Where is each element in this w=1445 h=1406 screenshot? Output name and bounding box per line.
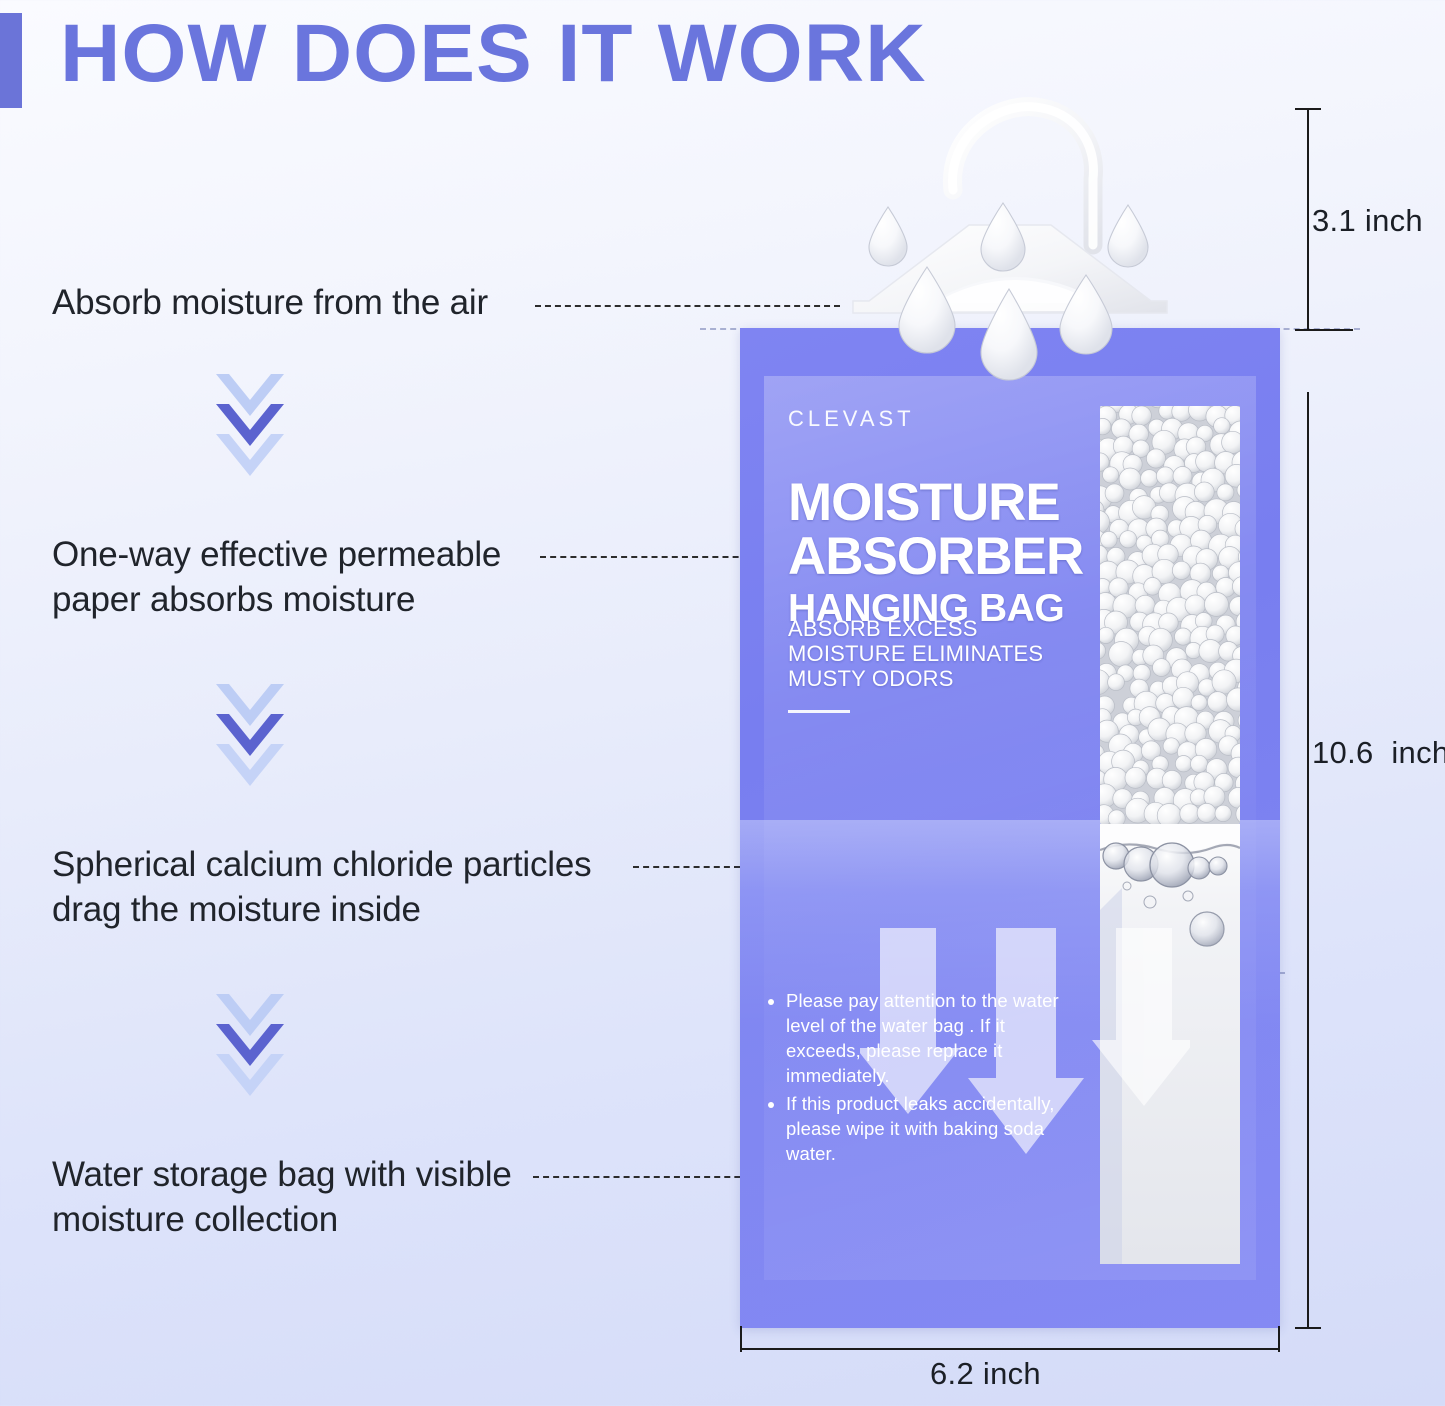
package-headline: MOISTURE ABSORBER HANGING BAG <box>788 476 1088 634</box>
dimension-line-top-vertical <box>1307 108 1309 330</box>
tagline-rule <box>788 710 850 713</box>
callout-absorb-air: Absorb moisture from the air <box>52 280 488 325</box>
dimension-cap-top <box>1295 108 1321 110</box>
dimension-cap-bottom <box>1295 1327 1321 1329</box>
chevron-group-3 <box>214 992 286 1108</box>
dimension-cap-right <box>1278 1326 1280 1352</box>
chevron-group-1 <box>214 372 286 488</box>
dimension-line-width <box>740 1348 1280 1350</box>
hanger-hook-icon <box>835 95 1205 425</box>
water-droplet-icon <box>869 207 907 266</box>
callout-water-storage: Water storage bag with visible moisture … <box>52 1152 512 1242</box>
bead-texture <box>1100 406 1240 824</box>
dimension-cap-left <box>740 1326 742 1352</box>
dimension-cap-middle <box>1295 329 1353 331</box>
dimension-line-body-vertical <box>1307 392 1309 1328</box>
chevron-down-icon <box>214 1052 286 1098</box>
chevron-down-icon <box>214 432 286 478</box>
moisture-flow-arrows <box>860 928 1190 1158</box>
headline-line-1: MOISTURE <box>788 476 1088 529</box>
calcium-chloride-bead-window <box>1100 406 1240 824</box>
leader-line-absorb-air <box>535 305 840 307</box>
chevron-down-icon <box>214 742 286 788</box>
arrow-down-icon <box>860 928 960 1114</box>
headline-line-2: ABSORBER <box>788 529 1088 584</box>
callout-calcium-particles: Spherical calcium chloride particles dra… <box>52 842 591 932</box>
page-title: HOW DOES IT WORK <box>60 8 927 100</box>
title-accent-bar <box>0 13 22 108</box>
dimension-label-body-height: 10.6 inch <box>1312 735 1445 771</box>
arrow-down-icon <box>1092 928 1190 1106</box>
water-droplet-icon <box>981 203 1025 271</box>
product-package: CLEVAST MOISTURE ABSORBER HANGING BAG AB… <box>740 328 1280 1328</box>
water-droplet-icon <box>1108 205 1148 267</box>
package-tagline: ABSORB EXCESS MOISTURE ELIMINATES MUSTY … <box>788 616 1078 691</box>
arrow-down-icon <box>968 928 1084 1154</box>
dimension-label-width: 6.2 inch <box>930 1356 1041 1392</box>
dimension-label-top-height: 3.1 inch <box>1312 203 1423 239</box>
callout-permeable-paper: One-way effective permeable paper absorb… <box>52 532 501 622</box>
chevron-group-2 <box>214 682 286 798</box>
